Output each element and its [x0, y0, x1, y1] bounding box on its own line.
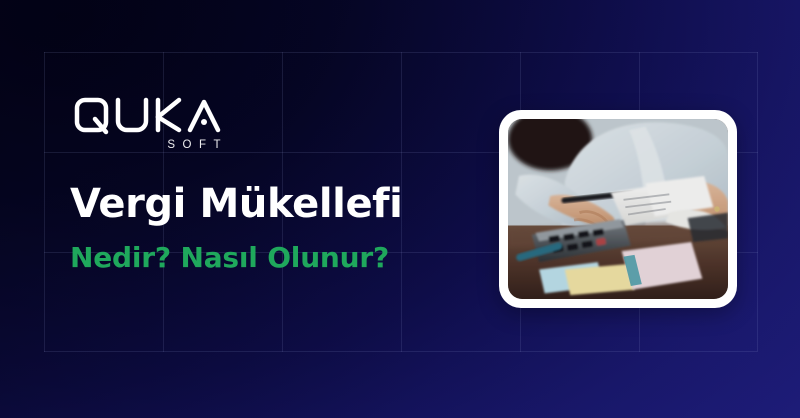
promo-banner: SOFT QUKA Vergi Mükellefi Nedir? Nasıl O… — [0, 0, 800, 418]
brand-sub-name: SOFT — [70, 139, 228, 151]
brand-logo[interactable]: SOFT QUKA — [70, 96, 232, 151]
page-subtitle: Nedir? Nasıl Olunur? — [70, 243, 480, 274]
quka-wordmark-icon — [70, 96, 230, 136]
photo-frame: Masada hesap makinesi ve belgelerle çalı… — [508, 119, 728, 299]
brand-name: QUKA — [70, 151, 71, 152]
accountant-calculator-photo: Masada hesap makinesi ve belgelerle çalı… — [508, 119, 728, 299]
logo-dot-icon — [201, 119, 207, 125]
page-title: Vergi Mükellefi — [70, 183, 480, 226]
content-column: SOFT QUKA Vergi Mükellefi Nedir? Nasıl O… — [70, 96, 480, 274]
photo-card: Masada hesap makinesi ve belgelerle çalı… — [499, 110, 737, 308]
